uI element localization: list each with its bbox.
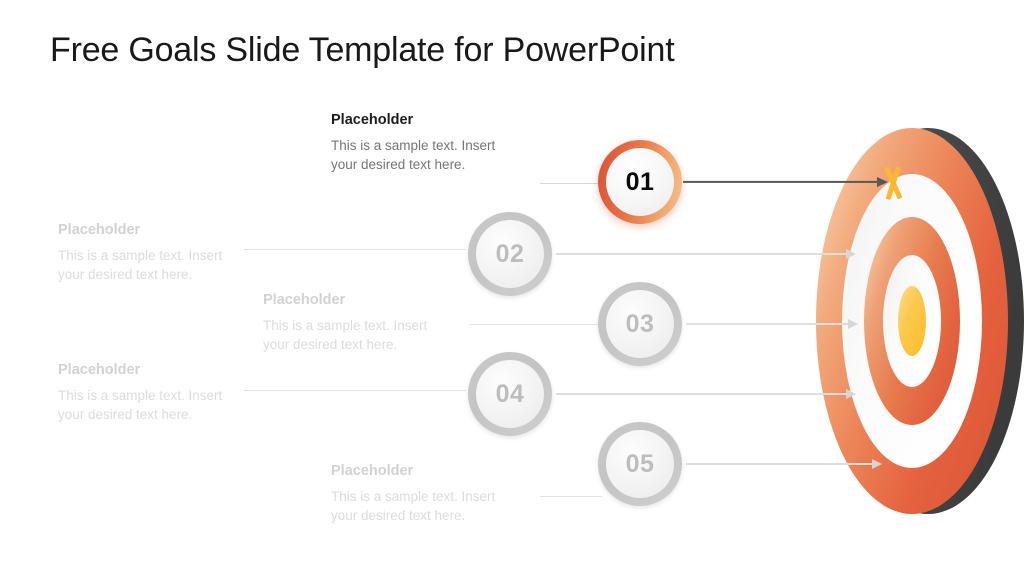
step-heading-3: Placeholder [263, 292, 463, 309]
step-body-5: This is a sample text. Insert your desir… [331, 487, 531, 526]
arrow-head [848, 319, 858, 329]
step-body-line2: your desired text here. [263, 337, 397, 352]
step-number-label: 03 [626, 310, 655, 339]
step-body-line1: This is a sample text. Insert [58, 388, 222, 403]
step-body-line1: This is a sample text. Insert [331, 138, 495, 153]
step-text-block-2[interactable]: Placeholder This is a sample text. Inser… [58, 222, 258, 285]
step-heading-5: Placeholder [331, 463, 531, 480]
connector-line-4 [244, 390, 466, 391]
step-body-line2: your desired text here. [58, 407, 192, 422]
step-text-block-3[interactable]: Placeholder This is a sample text. Inser… [263, 292, 463, 355]
step-number-label: 04 [496, 380, 525, 409]
arrow-shaft [556, 393, 846, 395]
slide-canvas: Free Goals Slide Template for PowerPoint [0, 0, 1024, 576]
step-body-2: This is a sample text. Insert your desir… [58, 246, 258, 285]
step-circle-inner: 05 [606, 430, 674, 498]
arrow-shaft [556, 253, 846, 255]
step-body-line1: This is a sample text. Insert [58, 248, 222, 263]
arrow-to-target-5 [686, 456, 882, 472]
arrow-shaft [683, 181, 877, 183]
step-circle-inner: 02 [476, 220, 544, 288]
arrow-to-target-1 [683, 174, 888, 190]
connector-line-3 [470, 324, 600, 325]
connector-line-1 [540, 183, 602, 184]
step-circle-04[interactable]: 04 [468, 352, 552, 436]
step-circle-inner: 01 [606, 148, 674, 216]
arrow-head [872, 459, 882, 469]
step-body-line2: your desired text here. [58, 267, 192, 282]
step-body-line2: your desired text here. [331, 508, 465, 523]
step-text-block-5[interactable]: Placeholder This is a sample text. Inser… [331, 463, 531, 526]
step-heading-2: Placeholder [58, 222, 258, 239]
step-circle-03[interactable]: 03 [598, 282, 682, 366]
arrow-shaft [686, 323, 848, 325]
arrow-head [846, 249, 856, 259]
step-circle-inner: 04 [476, 360, 544, 428]
arrow-to-target-2 [556, 246, 856, 262]
arrow-head [846, 389, 856, 399]
step-body-line1: This is a sample text. Insert [331, 489, 495, 504]
step-heading-4: Placeholder [58, 362, 258, 379]
step-body-4: This is a sample text. Insert your desir… [58, 386, 258, 425]
step-circle-01[interactable]: 01 [598, 140, 682, 224]
page-title: Free Goals Slide Template for PowerPoint [50, 31, 674, 70]
arrow-head [877, 177, 888, 187]
step-number-label: 02 [496, 240, 525, 269]
step-body-line1: This is a sample text. Insert [263, 318, 427, 333]
step-body-3: This is a sample text. Insert your desir… [263, 316, 463, 355]
step-circle-02[interactable]: 02 [468, 212, 552, 296]
step-text-block-4[interactable]: Placeholder This is a sample text. Inser… [58, 362, 258, 425]
step-circle-inner: 03 [606, 290, 674, 358]
connector-line-5 [540, 496, 602, 497]
step-text-block-1[interactable]: Placeholder This is a sample text. Inser… [331, 112, 531, 175]
step-circle-05[interactable]: 05 [598, 422, 682, 506]
step-number-label: 05 [626, 450, 655, 479]
arrow-to-target-4 [556, 386, 856, 402]
step-body-line2: your desired text here. [331, 157, 465, 172]
arrow-to-target-3 [686, 316, 858, 332]
step-heading-1: Placeholder [331, 112, 531, 129]
step-number-label: 01 [626, 168, 655, 197]
connector-line-2 [244, 249, 466, 250]
arrow-shaft [686, 463, 872, 465]
step-body-1: This is a sample text. Insert your desir… [331, 136, 531, 175]
